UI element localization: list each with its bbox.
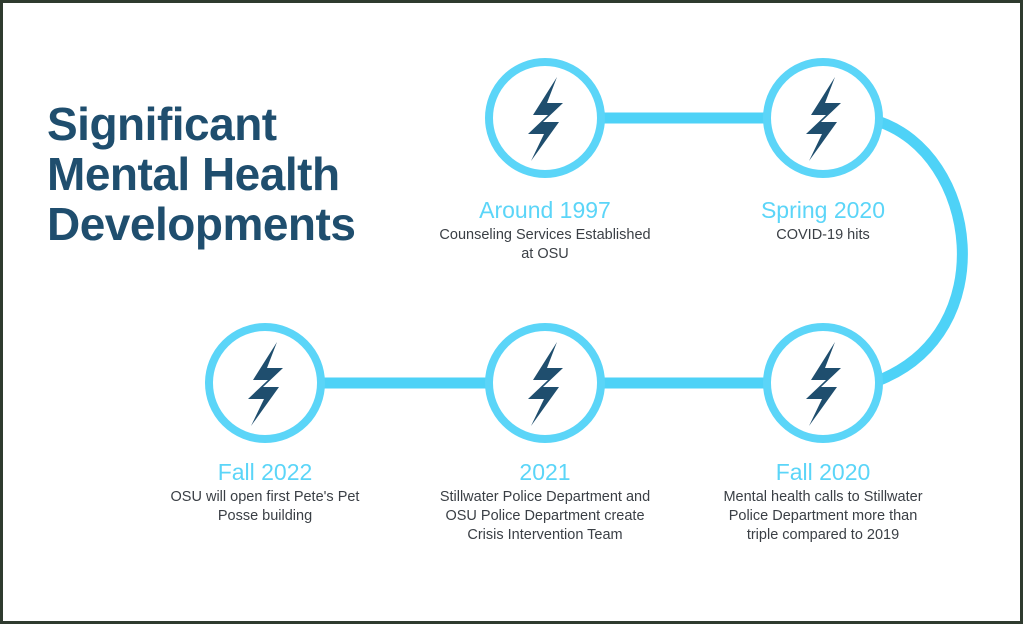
node-desc-line: OSU will open first Pete's Pet (115, 488, 415, 507)
page-title: Significant Mental Health Developments (47, 99, 427, 249)
node-desc-fall-2020: Mental health calls to Stillwater Police… (673, 488, 973, 545)
node-year-2021: 2021 (395, 459, 695, 486)
node-year-spring-2020: Spring 2020 (673, 197, 973, 224)
node-desc-around-1997: Counseling Services Established at OSU (395, 226, 695, 264)
connector-curve-spring2020-to-fall2020 (877, 121, 962, 381)
node-label-2021: 2021 Stillwater Police Department and OS… (395, 459, 695, 545)
infographic-frame: Significant Mental Health Developments A… (0, 0, 1023, 624)
timeline-canvas: Significant Mental Health Developments A… (3, 3, 1020, 621)
node-desc-fall-2022: OSU will open first Pete's Pet Posse bui… (115, 488, 415, 526)
node-circle-spring-2020[interactable] (767, 62, 879, 174)
page-title-line-1: Significant (47, 99, 427, 149)
node-label-fall-2020: Fall 2020 Mental health calls to Stillwa… (673, 459, 973, 545)
node-label-spring-2020: Spring 2020 COVID-19 hits (673, 197, 973, 245)
node-desc-line: at OSU (395, 245, 695, 264)
node-year-around-1997: Around 1997 (395, 197, 695, 224)
node-desc-spring-2020: COVID-19 hits (673, 226, 973, 245)
node-year-fall-2022: Fall 2022 (115, 459, 415, 486)
node-desc-line: triple compared to 2019 (673, 526, 973, 545)
node-circle-around-1997[interactable] (489, 62, 601, 174)
node-desc-line: Police Department more than (673, 507, 973, 526)
page-title-line-2: Mental Health (47, 149, 427, 199)
node-circle-fall-2022[interactable] (209, 327, 321, 439)
node-desc-line: OSU Police Department create (395, 507, 695, 526)
node-desc-line: Stillwater Police Department and (395, 488, 695, 507)
page-title-line-3: Developments (47, 199, 427, 249)
node-desc-line: COVID-19 hits (673, 226, 973, 245)
node-circle-2021[interactable] (489, 327, 601, 439)
node-desc-line: Mental health calls to Stillwater (673, 488, 973, 507)
node-desc-line: Crisis Intervention Team (395, 526, 695, 545)
node-desc-2021: Stillwater Police Department and OSU Pol… (395, 488, 695, 545)
node-desc-line: Posse building (115, 507, 415, 526)
node-desc-line: Counseling Services Established (395, 226, 695, 245)
node-label-fall-2022: Fall 2022 OSU will open first Pete's Pet… (115, 459, 415, 526)
node-circle-fall-2020[interactable] (767, 327, 879, 439)
node-label-around-1997: Around 1997 Counseling Services Establis… (395, 197, 695, 264)
node-year-fall-2020: Fall 2020 (673, 459, 973, 486)
